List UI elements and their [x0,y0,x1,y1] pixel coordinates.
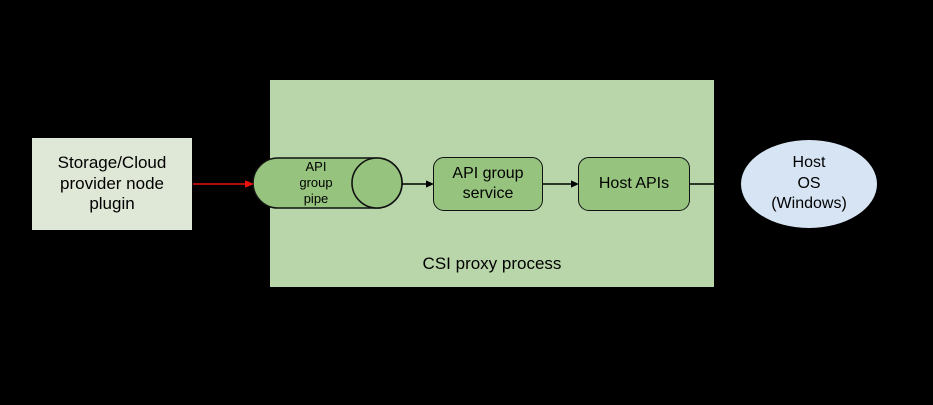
connector-service-to-host-apis [542,176,581,192]
connector-plugin-to-pipe [193,176,255,192]
csi-proxy-process-label: CSI proxy process [270,252,714,276]
arrowhead-icon [571,180,579,187]
arrowhead-icon [245,180,254,188]
diagram-canvas: CSI proxy process Storage/Cloud provider… [0,0,933,405]
host-os-ellipse[interactable]: Host OS (Windows) [741,140,877,228]
connector-host-apis-to-host-os [689,176,716,192]
api-group-pipe-cylinder[interactable]: API group pipe [252,157,403,209]
storage-cloud-provider-node-plugin-box[interactable]: Storage/Cloud provider node plugin [32,138,192,230]
api-group-pipe-label: API group pipe [260,157,372,209]
arrowhead-icon [426,180,434,187]
api-group-service-box[interactable]: API group service [433,157,543,211]
host-apis-box[interactable]: Host APIs [578,157,690,211]
connector-pipe-to-service [402,176,436,192]
